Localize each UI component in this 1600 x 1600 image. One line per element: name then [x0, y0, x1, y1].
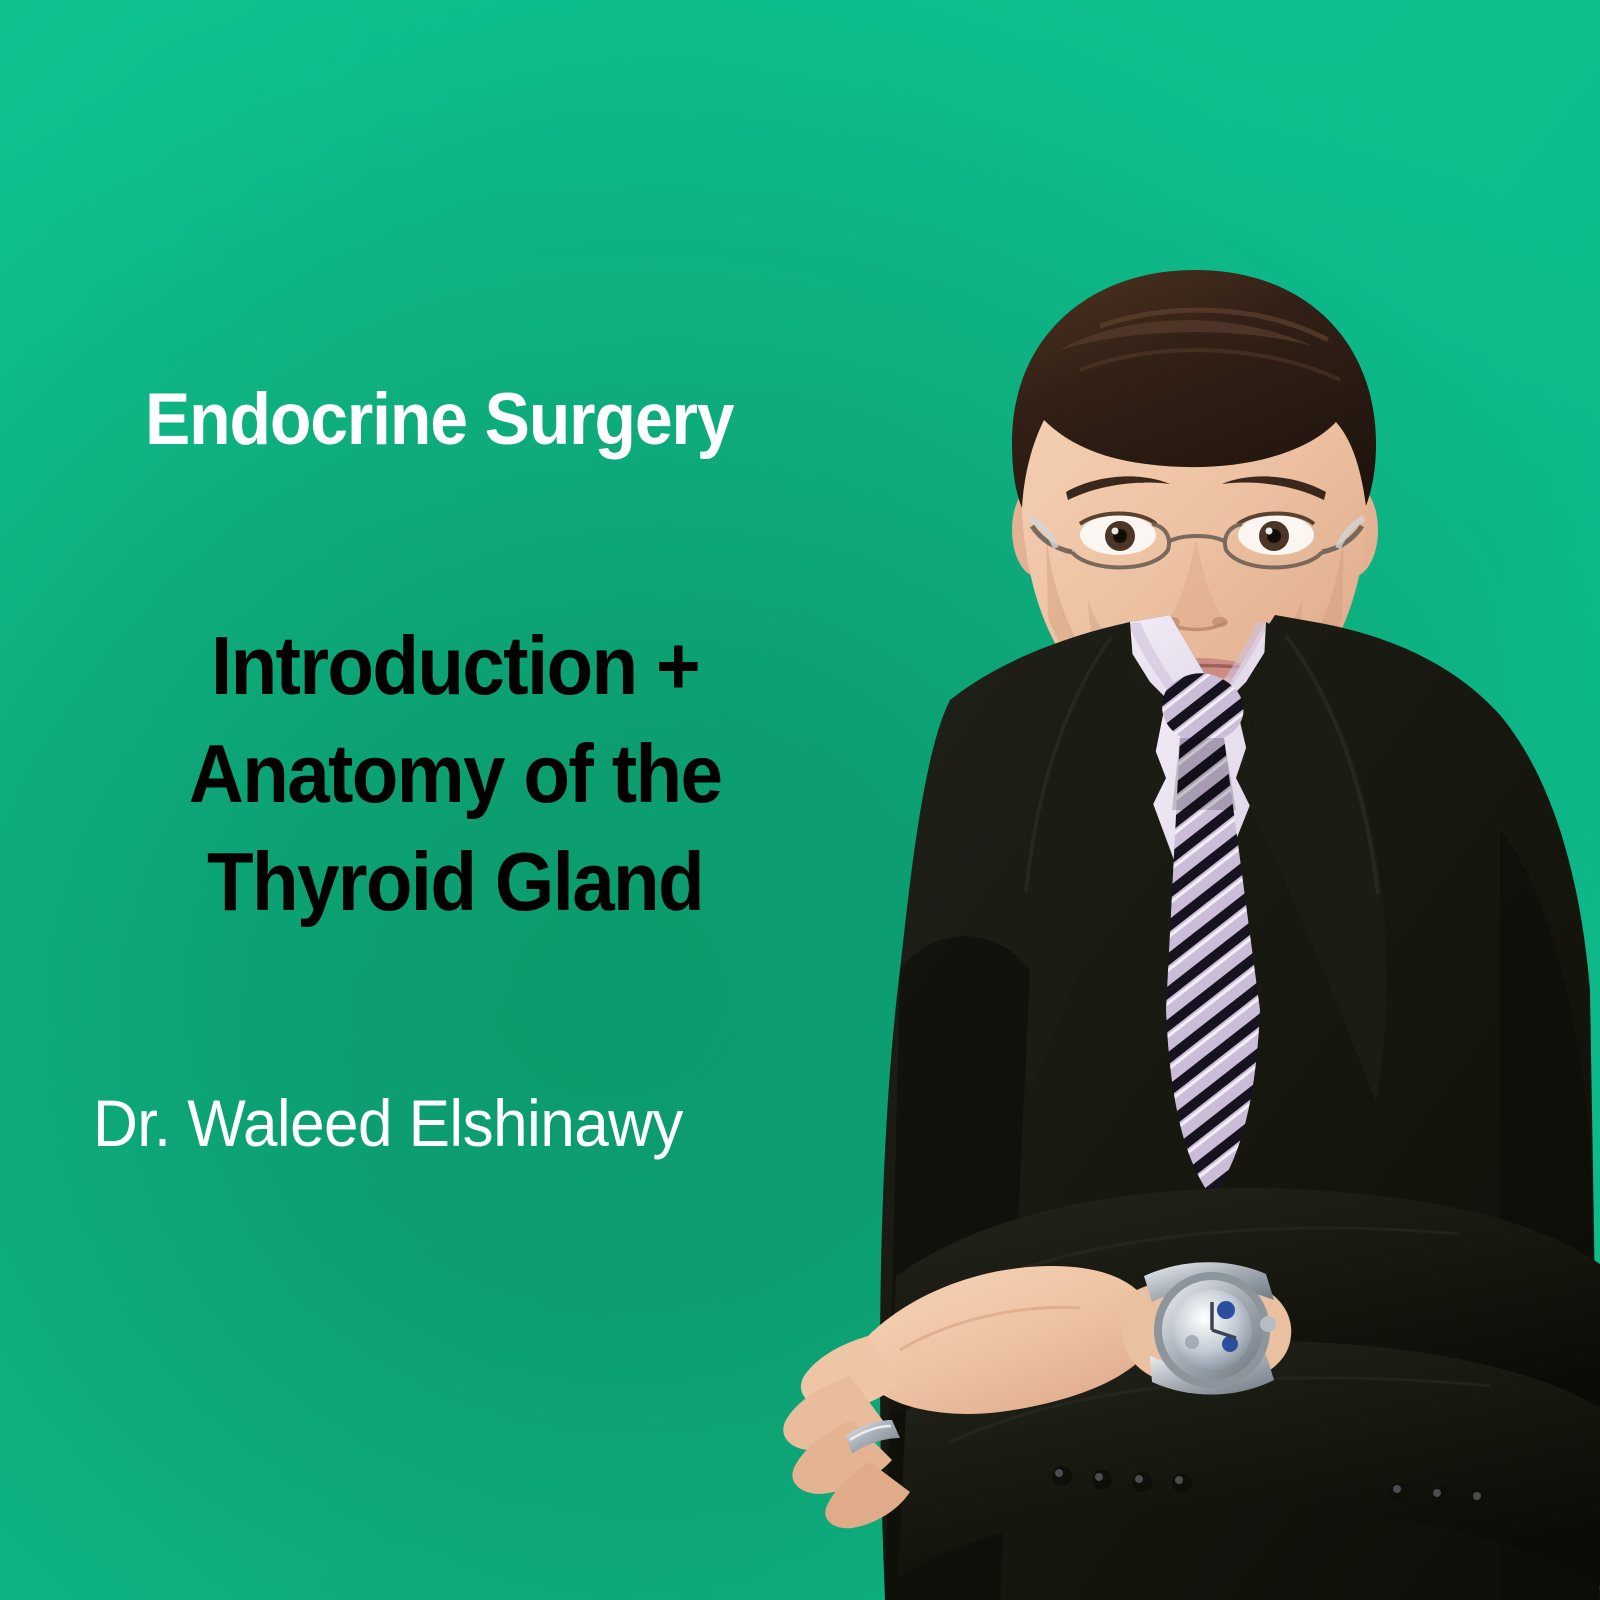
lecture-title-line-2: Anatomy of the	[92, 720, 819, 828]
slide-canvas: Endocrine Surgery Introduction + Anatomy…	[0, 0, 1600, 1600]
course-title: Endocrine Surgery	[145, 383, 733, 456]
wristwatch	[1144, 1262, 1276, 1394]
lecture-title: Introduction + Anatomy of the Thyroid Gl…	[60, 612, 850, 936]
presenter-name: Dr. Waleed Elshinawy	[93, 1085, 683, 1161]
lecture-title-line-3: Thyroid Gland	[92, 828, 819, 936]
lecture-title-line-1: Introduction +	[92, 612, 819, 720]
text-column: Endocrine Surgery Introduction + Anatomy…	[0, 0, 860, 1600]
